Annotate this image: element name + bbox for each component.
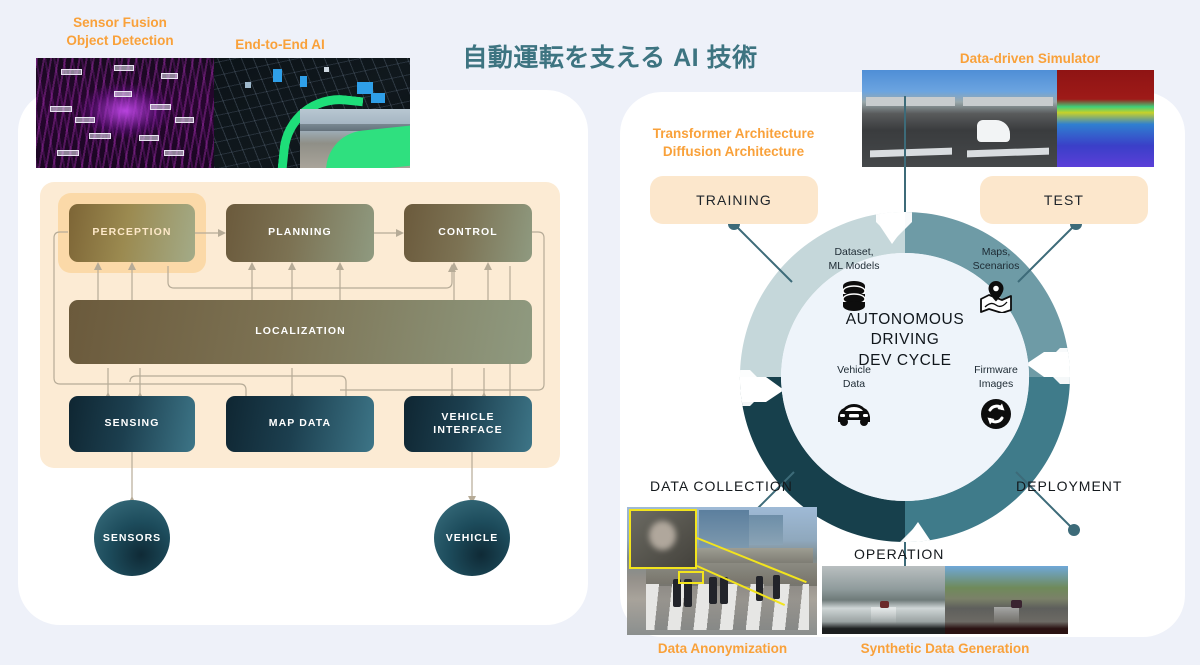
inner-item-vehicle-line2: Data bbox=[843, 378, 865, 390]
node-localization[interactable]: LOCALIZATION bbox=[69, 300, 532, 364]
car-icon bbox=[806, 397, 902, 431]
inner-item-firmware-line2: Images bbox=[979, 378, 1013, 390]
inner-item-maps: Maps, Scenarios bbox=[948, 246, 1044, 313]
caption-sensor-fusion-line1: Sensor Fusion bbox=[30, 14, 210, 32]
node-perception[interactable]: PERCEPTION bbox=[69, 204, 195, 262]
sync-icon bbox=[948, 397, 1044, 431]
inner-item-dataset: Dataset, ML Models bbox=[806, 246, 902, 313]
inner-item-dataset-line2: ML Models bbox=[829, 260, 880, 272]
circle-vehicle[interactable]: VEHICLE bbox=[434, 500, 510, 576]
synthetic-data-image bbox=[822, 566, 1068, 634]
slide-root: 自動運転を支える AI 技術 Sensor Fusion Object Dete… bbox=[0, 0, 1200, 665]
stage-box-training[interactable]: TRAINING bbox=[650, 176, 818, 224]
database-icon bbox=[806, 279, 902, 313]
node-control[interactable]: CONTROL bbox=[404, 204, 532, 262]
lidar-point-cloud-image bbox=[36, 58, 214, 168]
stage-label-operation[interactable]: OPERATION bbox=[854, 546, 944, 562]
node-vehicle-interface-line1: VEHICLE bbox=[441, 411, 494, 423]
caption-synthetic-data-generation: Synthetic Data Generation bbox=[820, 640, 1070, 658]
caption-data-driven-simulator: Data-driven Simulator bbox=[905, 50, 1155, 68]
inner-item-maps-line1: Maps, bbox=[982, 246, 1011, 258]
map-pin-icon bbox=[948, 279, 1044, 313]
stage-label-deployment[interactable]: DEPLOYMENT bbox=[1016, 478, 1122, 494]
node-planning[interactable]: PLANNING bbox=[226, 204, 374, 262]
caption-sensor-fusion: Sensor Fusion Object Detection bbox=[30, 14, 210, 50]
dev-cycle-center-line1: AUTONOMOUS bbox=[820, 310, 990, 330]
inner-item-vehicle-data: Vehicle Data bbox=[806, 364, 902, 431]
node-vehicle-interface-line2: INTERFACE bbox=[433, 424, 502, 436]
inner-item-dataset-line1: Dataset, bbox=[834, 246, 873, 258]
inner-item-firmware: Firmware Images bbox=[948, 364, 1044, 431]
inner-item-maps-line2: Scenarios bbox=[973, 260, 1020, 272]
caption-data-anonymization: Data Anonymization bbox=[625, 640, 820, 658]
stage-label-data-collection[interactable]: DATA COLLECTION bbox=[650, 478, 793, 494]
dev-cycle-center-title: AUTONOMOUS DRIVING DEV CYCLE bbox=[820, 310, 990, 371]
synthetic-pane-winter bbox=[822, 566, 945, 634]
anonymization-roi-box bbox=[678, 571, 704, 584]
autonomous-driving-stack-diagram: PERCEPTION PLANNING CONTROL LOCALIZATION… bbox=[40, 182, 560, 572]
dev-cycle-center-line2: DRIVING bbox=[820, 330, 990, 350]
dev-cycle-center-line3: DEV CYCLE bbox=[820, 351, 990, 371]
page-title: 自動運転を支える AI 技術 bbox=[400, 38, 820, 74]
node-vehicle-interface[interactable]: VEHICLE INTERFACE bbox=[404, 396, 532, 452]
blurred-face bbox=[649, 521, 676, 550]
stage-box-test[interactable]: TEST bbox=[980, 176, 1148, 224]
caption-sensor-fusion-line2: Object Detection bbox=[30, 32, 210, 50]
data-anonymization-image bbox=[627, 507, 817, 635]
node-map-data[interactable]: MAP DATA bbox=[226, 396, 374, 452]
circle-sensors[interactable]: SENSORS bbox=[94, 500, 170, 576]
synthetic-pane-sunny bbox=[945, 566, 1068, 634]
node-sensing[interactable]: SENSING bbox=[69, 396, 195, 452]
caption-end-to-end-ai: End-to-End AI bbox=[195, 36, 365, 54]
end-to-end-ai-image bbox=[214, 58, 410, 168]
anonymization-callout bbox=[629, 509, 697, 569]
